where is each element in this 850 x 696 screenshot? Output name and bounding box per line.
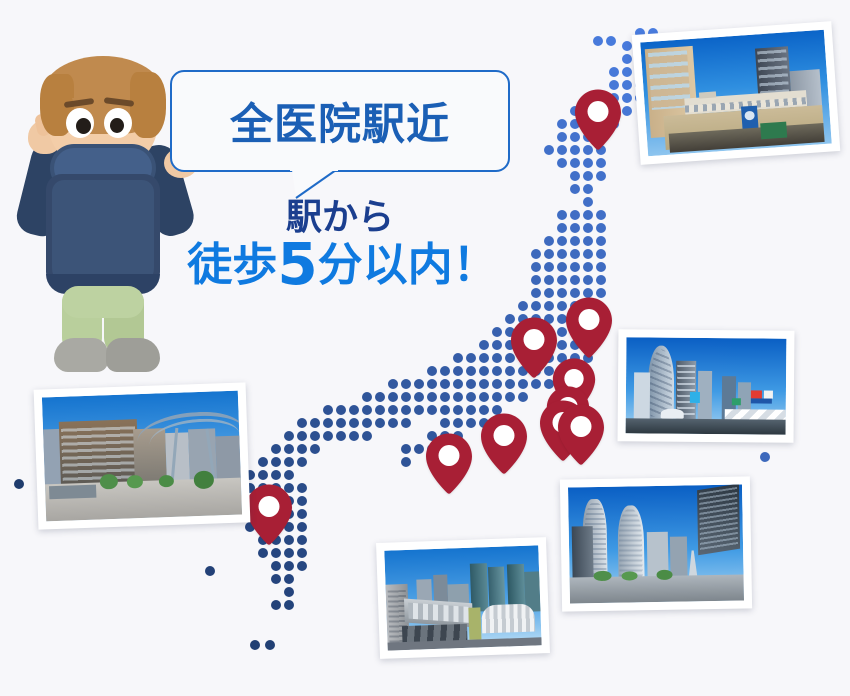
map-dot [505, 379, 515, 389]
map-dot [323, 405, 333, 415]
map-dot [466, 366, 476, 376]
main-headline-number: 5 [277, 230, 317, 298]
map-dot [349, 418, 359, 428]
map-dot [596, 223, 606, 233]
map-dot [622, 93, 632, 103]
photo-nagoya-station [560, 476, 752, 611]
map-dot [362, 405, 372, 415]
photo-osaka-station-image [384, 545, 541, 650]
map-dot [362, 392, 372, 402]
map-dot [544, 249, 554, 259]
map-dot [349, 405, 359, 415]
map-dot [593, 36, 603, 46]
map-dot [284, 470, 294, 480]
map-dot [479, 353, 489, 363]
map-dot [622, 106, 632, 116]
map-dot [427, 379, 437, 389]
map-dot [310, 444, 320, 454]
map-dot [622, 41, 632, 51]
map-dot [310, 418, 320, 428]
map-dot [453, 392, 463, 402]
map-dot [531, 249, 541, 259]
map-dot [453, 379, 463, 389]
map-dot [557, 119, 567, 129]
map-dot [466, 418, 476, 428]
map-dot [440, 418, 450, 428]
map-dot [440, 392, 450, 402]
photo-sapporo-station-image [640, 30, 832, 157]
map-dot [362, 431, 372, 441]
map-dot [440, 405, 450, 415]
map-dot [583, 249, 593, 259]
map-dot [479, 379, 489, 389]
map-dot [258, 470, 268, 480]
map-dot [401, 418, 411, 428]
map-dot [557, 236, 567, 246]
map-dot [14, 479, 24, 489]
main-headline: 徒歩5分以内！ [160, 235, 525, 293]
map-dot [583, 262, 593, 272]
map-dot [401, 444, 411, 454]
map-dot [271, 470, 281, 480]
map-dot [297, 561, 307, 571]
map-dot [401, 405, 411, 415]
map-dot [583, 184, 593, 194]
map-dot [297, 431, 307, 441]
map-dot [297, 548, 307, 558]
map-dot [622, 54, 632, 64]
map-dot [388, 392, 398, 402]
map-dot [544, 145, 554, 155]
map-dot [570, 223, 580, 233]
map-dot [570, 249, 580, 259]
map-dot [596, 275, 606, 285]
map-dot [505, 392, 515, 402]
map-dot [492, 353, 502, 363]
promo-banner: 全医院駅近 駅から 徒歩5分以内！ [0, 0, 850, 696]
map-dot [297, 444, 307, 454]
map-dot [427, 366, 437, 376]
map-dot [583, 158, 593, 168]
speech-bubble-text: 全医院駅近 [172, 90, 508, 152]
map-dot [570, 158, 580, 168]
pin-kansai[interactable] [424, 432, 474, 496]
map-dot [518, 379, 528, 389]
map-dot [453, 353, 463, 363]
map-dot [401, 392, 411, 402]
map-dot [583, 223, 593, 233]
map-dot [297, 522, 307, 532]
map-dot [258, 457, 268, 467]
map-dot [531, 262, 541, 272]
map-dot [583, 275, 593, 285]
map-dot [466, 379, 476, 389]
map-dot [492, 379, 502, 389]
map-dot [492, 392, 502, 402]
map-dot [284, 548, 294, 558]
map-dot [250, 640, 260, 650]
map-dot [557, 145, 567, 155]
map-dot [570, 171, 580, 181]
map-dot [531, 379, 541, 389]
map-dot [518, 301, 528, 311]
map-dot [271, 561, 281, 571]
map-dot [466, 405, 476, 415]
map-dot [388, 418, 398, 428]
map-dot [205, 566, 215, 576]
map-dot [323, 431, 333, 441]
map-dot [583, 197, 593, 207]
pin-tohoku[interactable] [564, 296, 614, 360]
map-dot [284, 561, 294, 571]
map-dot [414, 392, 424, 402]
map-dot [570, 210, 580, 220]
map-dot [557, 262, 567, 272]
map-dot [596, 171, 606, 181]
map-dot [492, 366, 502, 376]
map-dot [414, 444, 424, 454]
map-dot [284, 444, 294, 454]
map-dot [453, 418, 463, 428]
map-dot [557, 210, 567, 220]
map-dot [388, 405, 398, 415]
map-dot [570, 275, 580, 285]
map-dot [557, 158, 567, 168]
pin-chubu[interactable] [479, 412, 529, 476]
map-dot [375, 405, 385, 415]
main-headline-suffix: 分以内！ [318, 238, 498, 291]
map-dot [544, 262, 554, 272]
map-dot [349, 431, 359, 441]
map-dot [297, 535, 307, 545]
map-dot [388, 379, 398, 389]
pin-hokkaido[interactable] [573, 88, 623, 152]
map-dot [401, 457, 411, 467]
map-dot [401, 379, 411, 389]
map-dot [271, 457, 281, 467]
map-dot [453, 366, 463, 376]
map-dot [557, 249, 567, 259]
map-dot [544, 288, 554, 298]
map-dot [440, 366, 450, 376]
speech-bubble: 全医院駅近 [170, 70, 510, 172]
map-dot [606, 36, 616, 46]
map-dot [323, 418, 333, 428]
pin-kyushu[interactable] [244, 483, 294, 547]
map-dot [466, 392, 476, 402]
map-dot [284, 457, 294, 467]
map-dot [362, 418, 372, 428]
map-dot [427, 405, 437, 415]
map-dot [453, 405, 463, 415]
map-dot [265, 640, 275, 650]
sub-headline: 駅から [170, 188, 510, 240]
map-dot [466, 353, 476, 363]
map-dot [297, 509, 307, 519]
map-dot [622, 80, 632, 90]
map-dot [531, 288, 541, 298]
map-dot [583, 171, 593, 181]
photo-sapporo-station [632, 21, 841, 165]
map-dot [440, 379, 450, 389]
map-dot [297, 496, 307, 506]
map-dot [427, 392, 437, 402]
map-dot [544, 301, 554, 311]
map-dot [557, 132, 567, 142]
photo-station-plaza-image [42, 391, 242, 522]
map-dot [375, 392, 385, 402]
pin-yokohama[interactable] [556, 403, 606, 467]
map-dot [596, 249, 606, 259]
map-dot [583, 236, 593, 246]
map-dot [284, 587, 294, 597]
map-dot [492, 327, 502, 337]
map-dot [271, 600, 281, 610]
map-dot [414, 405, 424, 415]
map-dot [622, 67, 632, 77]
map-dot [596, 262, 606, 272]
photo-shinjuku-skyline-image [626, 337, 787, 434]
map-dot [271, 548, 281, 558]
map-dot [479, 366, 489, 376]
map-dot [297, 418, 307, 428]
map-dot [557, 223, 567, 233]
map-dot [570, 262, 580, 272]
map-dot [297, 457, 307, 467]
map-dot [570, 236, 580, 246]
photo-osaka-station [376, 537, 550, 659]
main-headline-prefix: 徒歩 [187, 238, 277, 291]
map-dot [284, 574, 294, 584]
map-dot [760, 452, 770, 462]
map-dot [336, 405, 346, 415]
map-dot [531, 301, 541, 311]
map-dot [479, 392, 489, 402]
map-dot [596, 236, 606, 246]
map-dot [414, 379, 424, 389]
map-dot [609, 67, 619, 77]
photo-shinjuku-skyline [618, 329, 795, 443]
map-dot [492, 340, 502, 350]
map-dot [271, 444, 281, 454]
map-dot [596, 158, 606, 168]
map-dot [531, 275, 541, 285]
photo-station-plaza [34, 382, 251, 529]
map-dot [297, 483, 307, 493]
map-dot [518, 392, 528, 402]
map-dot [479, 340, 489, 350]
map-dot [544, 236, 554, 246]
map-dot [310, 431, 320, 441]
map-dot [557, 275, 567, 285]
map-dot [336, 431, 346, 441]
map-dot [271, 574, 281, 584]
map-dot [570, 184, 580, 194]
map-dot [336, 418, 346, 428]
map-dot [284, 600, 294, 610]
map-dot [375, 418, 385, 428]
map-dot [258, 548, 268, 558]
map-dot [583, 210, 593, 220]
photo-nagoya-station-image [568, 484, 744, 603]
map-dot [596, 210, 606, 220]
map-dot [284, 431, 294, 441]
map-dot [544, 275, 554, 285]
